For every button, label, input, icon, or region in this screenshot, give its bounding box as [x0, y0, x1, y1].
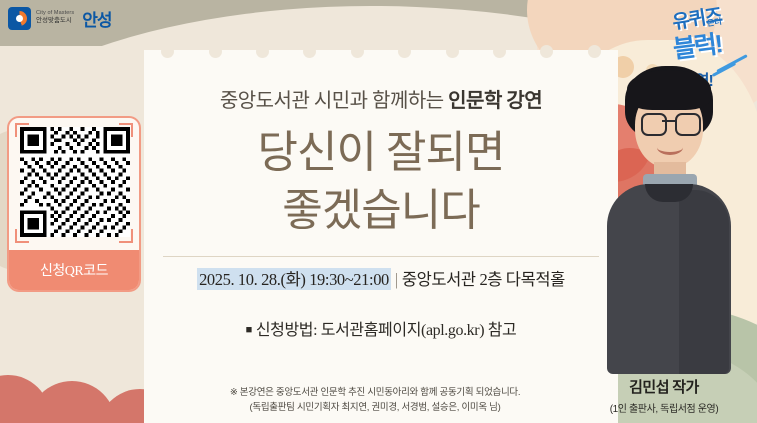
apply-method-text: 신청방법: 도서관홈페이지(apl.go.kr) 참고	[256, 322, 517, 339]
city-logo: City of Masters 안성맞춤도시 안성	[8, 5, 111, 31]
glasses-bridge-icon	[662, 120, 676, 122]
speaker-role: (1인 출판사, 독립서점 운영)	[589, 400, 739, 415]
hair-front	[627, 70, 711, 110]
footnote-line-1: ※ 본강연은 중앙도서관 인문학 추진 시민동아리와 함께 공동기획 되었습니다…	[150, 386, 600, 401]
qr-code-image[interactable]	[20, 127, 130, 237]
qr-corner-mark	[119, 123, 133, 137]
glasses-right-lens-icon	[675, 113, 701, 136]
title-line-2: 좋겠습니다	[144, 182, 618, 240]
schedule-separator: |	[391, 270, 402, 289]
qr-code-box[interactable]: 신청QR코드	[7, 116, 141, 292]
subtitle-bold: 인문학 강연	[448, 90, 542, 112]
schedule-venue: 중앙도서관 2층 다목적홀	[402, 270, 565, 289]
divider	[163, 256, 599, 257]
footnote-line-2: (독립출판팀 시민기획자 최지연, 권미경, 서경범, 설승은, 이미옥 님)	[150, 401, 600, 416]
lecture-subtitle: 중앙도서관 시민과 함께하는 인문학 강연	[144, 84, 618, 113]
poster-root: City of Masters 안성맞춤도시 안성 유퀴즈온더 블럭! 출연!	[0, 0, 757, 423]
qr-corner-mark	[119, 229, 133, 243]
subtitle-plain: 중앙도서관 시민과 함께하는	[220, 90, 448, 112]
anseong-emblem-icon	[8, 7, 31, 30]
schedule-datetime: 2025. 10. 28.(화) 19:30~21:00	[197, 268, 391, 290]
qr-label: 신청QR코드	[9, 250, 139, 290]
speaker-name: 김민섭 작가	[589, 376, 739, 397]
speaker-photo	[605, 66, 733, 366]
qr-corner-mark	[15, 229, 29, 243]
sweater-shadow	[679, 190, 729, 374]
footnote: ※ 본강연은 중앙도서관 인문학 추진 시민동아리와 함께 공동기획 되었습니다…	[150, 386, 600, 415]
apply-method-line: ■신청방법: 도서관홈페이지(apl.go.kr) 참고	[144, 316, 618, 340]
schedule-line: 2025. 10. 28.(화) 19:30~21:00|중앙도서관 2층 다목…	[144, 266, 618, 290]
city-logo-slogan: 안성맞춤도시	[36, 18, 74, 25]
city-logo-english: City of Masters	[36, 11, 74, 17]
city-logo-text: City of Masters 안성맞춤도시	[36, 11, 74, 25]
bullet-square-icon: ■	[246, 324, 252, 336]
smile	[657, 140, 683, 155]
glasses-left-lens-icon	[641, 113, 667, 136]
city-logo-name: 안성	[82, 6, 111, 31]
lecture-title: 당신이 잘되면 좋겠습니다	[144, 124, 618, 240]
qr-corner-mark	[15, 123, 29, 137]
title-line-1: 당신이 잘되면	[144, 124, 618, 182]
